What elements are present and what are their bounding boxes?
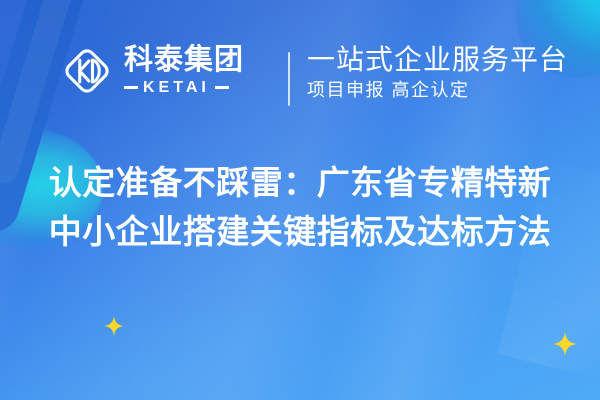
brand-name-en: KETAI (143, 79, 210, 97)
banner-title-line-2: 中小企业搭建关键指标及达标方法 (0, 207, 600, 256)
brand-tagline: 一站式企业服务平台 项目申报 高企认定 (307, 44, 568, 103)
promo-banner: 科泰集团 KETAI 一站式企业服务平台 项目申报 高企认定 认定准备不踩雷：广… (0, 0, 600, 400)
sparkle-icon-left (104, 316, 124, 336)
tagline-sub: 项目申报 高企认定 (307, 79, 568, 102)
logo-dash-right (215, 86, 229, 89)
brand-logo-wordmark: 科泰集团 KETAI (124, 45, 244, 96)
logo-dash-left (124, 86, 138, 89)
brand-name-en-row: KETAI (124, 79, 244, 97)
tagline-main: 一站式企业服务平台 (307, 44, 568, 75)
brand-name-cn: 科泰集团 (124, 45, 244, 75)
banner-title-line-1: 认定准备不踩雷：广东省专精特新 (0, 158, 600, 207)
ketai-diamond-monogram-logo-icon (58, 42, 116, 100)
header-divider (288, 52, 290, 106)
brand-logo: 科泰集团 KETAI (58, 42, 244, 100)
sparkle-icon-right (553, 332, 577, 356)
banner-title: 认定准备不踩雷：广东省专精特新 中小企业搭建关键指标及达标方法 (0, 158, 600, 256)
banner-header: 科泰集团 KETAI 一站式企业服务平台 项目申报 高企认定 (0, 0, 600, 140)
